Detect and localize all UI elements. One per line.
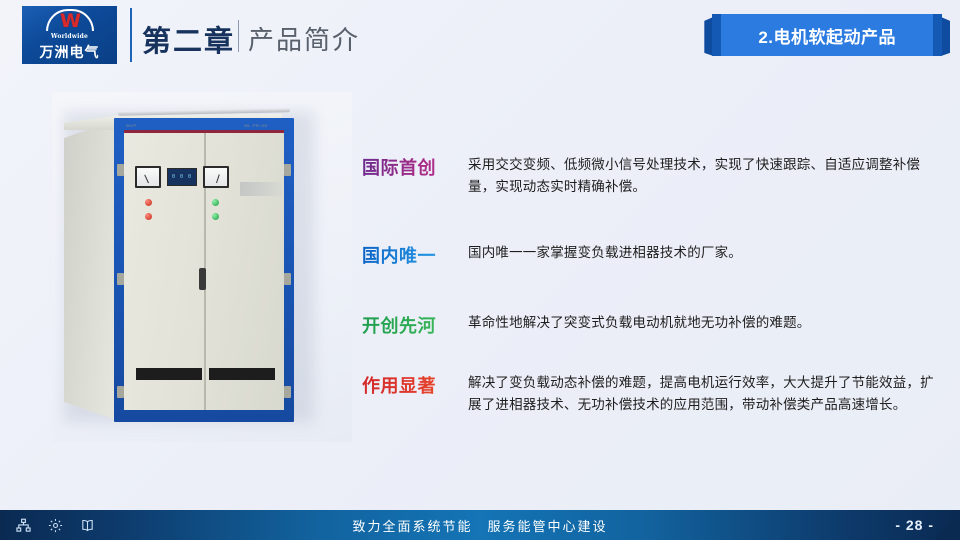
feature-description: 革命性地解决了突变式负载电动机就地无功补偿的难题。	[462, 312, 944, 334]
cabinet-hinge	[284, 386, 291, 398]
cabinet-hinge	[284, 164, 291, 176]
analog-meter-left	[135, 166, 161, 188]
slide-footer: 致力全面系统节能 服务能管中心建设 - 28 -	[0, 510, 960, 540]
feature-label: 国内唯一	[362, 242, 462, 268]
cabinet-label-right: WL-PR-SD	[244, 123, 268, 128]
logo-tagline: Worldwide	[51, 33, 88, 40]
logo-company-name: 万洲电气	[40, 42, 100, 62]
title-separator	[238, 20, 239, 52]
feature-label: 开创先河	[362, 312, 462, 338]
logo-letter: W	[60, 11, 79, 32]
digital-readout: 0 0 0	[172, 174, 192, 180]
feature-item: 国际首创 采用交交变频、低频微小信号处理技术，实现了快速跟踪、自适应调整补偿量，…	[362, 154, 944, 198]
badge-fold-right	[941, 17, 950, 56]
indicator-lamp-green	[212, 199, 219, 206]
cabinet-vent	[209, 368, 275, 380]
cabinet-side-panel	[64, 120, 116, 420]
slide-canvas: W Worldwide 万洲电气 第二章 产品简介 2.电机软起动产品	[0, 0, 960, 540]
feature-description: 采用交交变频、低频微小信号处理技术，实现了快速跟踪、自适应调整补偿量，实现动态实…	[462, 154, 944, 198]
cabinet-door-handle	[199, 268, 206, 290]
cabinet-hinge	[117, 273, 124, 285]
feature-description: 国内唯一一家掌握变负载进相器技术的厂家。	[462, 242, 944, 264]
chapter-number: 第二章	[142, 18, 235, 60]
product-photo: 0 0 0 WVP WL-PR-SD	[52, 92, 352, 442]
footer-slogan: 致力全面系统节能 服务能管中心建设	[0, 510, 960, 540]
digital-display: 0 0 0	[167, 168, 197, 186]
cabinet-brand-plate	[240, 182, 282, 196]
meter-needle	[144, 175, 149, 184]
cabinet-label-left: WVP	[126, 123, 137, 128]
cabinet-frame: 0 0 0	[114, 118, 294, 422]
logo-w-mark: W	[43, 8, 97, 32]
feature-description: 解决了变负载动态补偿的难题，提高电机运行效率，大大提升了节能效益，扩展了进相器技…	[462, 372, 944, 416]
cabinet-hinge	[284, 273, 291, 285]
indicator-lamp-red	[145, 213, 152, 220]
company-logo: W Worldwide 万洲电气	[22, 6, 117, 64]
indicator-lamp-green	[212, 213, 219, 220]
meter-needle	[216, 174, 220, 183]
section-badge[interactable]: 2.电机软起动产品	[712, 14, 942, 56]
cabinet-hinge	[117, 386, 124, 398]
feature-list: 国际首创 采用交交变频、低频微小信号处理技术，实现了快速跟踪、自适应调整补偿量，…	[362, 150, 944, 438]
cabinet-hinge	[117, 164, 124, 176]
analog-meter-right	[203, 166, 229, 188]
cabinet-vent	[136, 368, 202, 380]
page-number: - 28 -	[895, 510, 934, 540]
feature-item: 作用显著 解决了变负载动态补偿的难题，提高电机运行效率，大大提升了节能效益，扩展…	[362, 372, 944, 416]
section-badge-label: 2.电机软起动产品	[712, 14, 942, 56]
indicator-lamp-red	[145, 199, 152, 206]
header-divider	[130, 8, 132, 62]
feature-item: 开创先河 革命性地解决了突变式负载电动机就地无功补偿的难题。	[362, 312, 944, 338]
feature-label: 作用显著	[362, 372, 462, 398]
feature-label: 国际首创	[362, 154, 462, 180]
product-figure: 0 0 0 WVP WL-PR-SD WVP变负载进相器	[52, 92, 352, 442]
feature-item: 国内唯一 国内唯一一家掌握变负载进相器技术的厂家。	[362, 242, 944, 268]
chapter-subtitle: 产品简介	[248, 20, 360, 57]
slide-header: W Worldwide 万洲电气 第二章 产品简介 2.电机软起动产品	[0, 0, 960, 78]
